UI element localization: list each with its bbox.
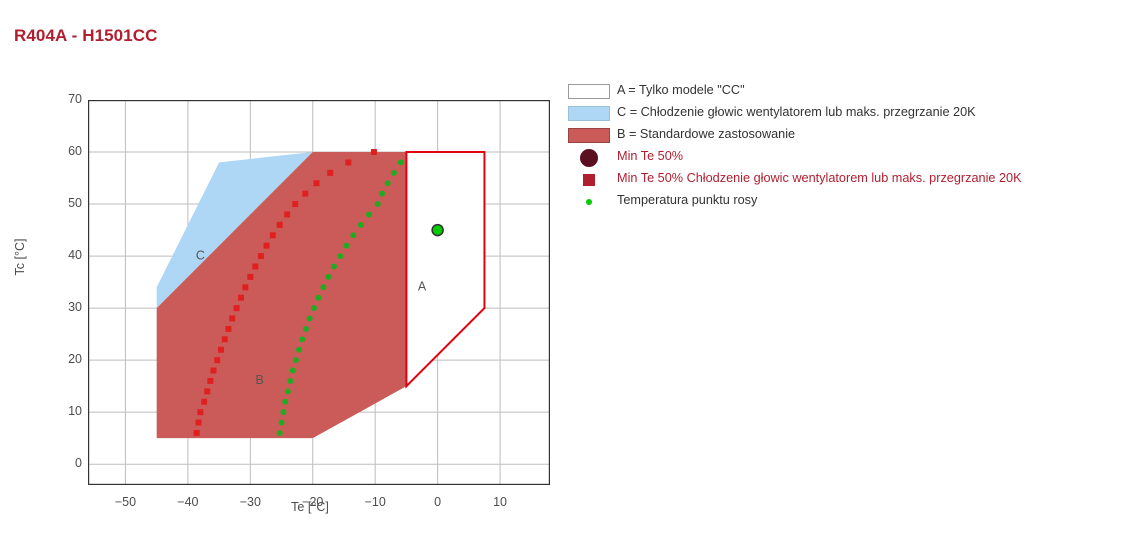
marker-square (197, 409, 203, 415)
legend-label: Min Te 50% (612, 148, 683, 165)
region-label-b: B (256, 373, 264, 387)
marker-square (252, 263, 258, 269)
x-tick-label: −20 (293, 495, 333, 509)
marker-circle (337, 253, 343, 259)
y-tick-label: 60 (48, 144, 82, 158)
marker-square (204, 388, 210, 394)
marker-square (327, 170, 333, 176)
region-b (157, 152, 407, 438)
x-tick-label: −10 (355, 495, 395, 509)
page-title: R404A - H1501CC (14, 26, 158, 46)
y-tick-label: 20 (48, 352, 82, 366)
marker-square (247, 274, 253, 280)
marker-square (201, 399, 207, 405)
legend-item: C = Chłodzenie głowic wentylatorem lub m… (566, 104, 1126, 123)
y-axis-title: Tc [°C] (13, 217, 27, 297)
marker-square (207, 378, 213, 384)
marker-circle (279, 420, 285, 426)
legend-swatch-dot (586, 199, 592, 205)
marker-circle (366, 211, 372, 217)
marker-circle (350, 232, 356, 238)
marker-circle (303, 326, 309, 332)
marker-square (218, 347, 224, 353)
legend-label: A = Tylko modele "CC" (612, 82, 745, 99)
y-tick-label: 40 (48, 248, 82, 262)
marker-square (210, 368, 216, 374)
marker-circle (285, 388, 291, 394)
legend-item: Min Te 50% Chłodzenie głowic wentylatore… (566, 170, 1126, 189)
legend-label: Temperatura punktu rosy (612, 192, 757, 209)
region-label-a: A (418, 280, 427, 294)
chart-container: Tc [°C] Te [°C] ACB 010203040506070−50−4… (0, 60, 600, 540)
legend-swatch-wrap (566, 148, 612, 167)
legend-item: B = Standardowe zastosowanie (566, 126, 1126, 145)
region-label-c: C (196, 248, 205, 262)
legend-label: B = Standardowe zastosowanie (612, 126, 795, 143)
marker-square (194, 430, 200, 436)
marker-circle (331, 263, 337, 269)
marker-circle (325, 274, 331, 280)
marker-square (277, 222, 283, 228)
marker-circle (358, 222, 364, 228)
y-tick-label: 70 (48, 92, 82, 106)
legend-swatch-box (568, 106, 610, 121)
legend-swatch-circle (580, 149, 598, 167)
marker-circle (287, 378, 293, 384)
marker-circle (282, 399, 288, 405)
y-tick-label: 0 (48, 456, 82, 470)
marker-circle (343, 243, 349, 249)
chart-page: R404A - H1501CC Tc [°C] Te [°C] ACB 0102… (0, 0, 1130, 550)
marker-circle (290, 368, 296, 374)
marker-circle (379, 191, 385, 197)
marker-square (222, 336, 228, 342)
marker-square (292, 201, 298, 207)
x-tick-label: −40 (168, 495, 208, 509)
marker-square (196, 420, 202, 426)
chart-legend: A = Tylko modele "CC"C = Chłodzenie głow… (566, 82, 1126, 214)
marker-circle (320, 284, 326, 290)
x-tick-label: −50 (105, 495, 145, 509)
plot-svg: ACB (88, 100, 550, 485)
marker-circle (277, 430, 283, 436)
legend-item: Temperatura punktu rosy (566, 192, 1126, 211)
marker-square (371, 149, 377, 155)
legend-swatch-box (568, 84, 610, 99)
marker-circle (398, 159, 404, 165)
legend-swatch-wrap (566, 192, 612, 211)
legend-item: Min Te 50% (566, 148, 1126, 167)
y-tick-label: 50 (48, 196, 82, 210)
marker-circle (375, 201, 381, 207)
x-tick-label: 10 (480, 495, 520, 509)
legend-swatch-wrap (566, 170, 612, 189)
marker-square (238, 295, 244, 301)
legend-swatch-wrap (566, 104, 612, 123)
y-tick-label: 10 (48, 404, 82, 418)
legend-swatch-box (568, 128, 610, 143)
marker-square (225, 326, 231, 332)
marker-circle (299, 336, 305, 342)
marker-square (284, 211, 290, 217)
marker-square (314, 180, 320, 186)
marker-circle (315, 295, 321, 301)
marker-circle (293, 357, 299, 363)
marker-circle (296, 347, 302, 353)
marker-circle (432, 225, 443, 236)
marker-circle (280, 409, 286, 415)
marker-square (242, 284, 248, 290)
plot-area: ACB (88, 100, 550, 485)
legend-swatch-wrap (566, 126, 612, 145)
legend-label: Min Te 50% Chłodzenie głowic wentylatore… (612, 170, 1022, 187)
marker-square (270, 232, 276, 238)
legend-swatch-square (583, 174, 595, 186)
marker-circle (311, 305, 317, 311)
marker-circle (385, 180, 391, 186)
marker-square (264, 243, 270, 249)
marker-square (302, 191, 308, 197)
marker-square (229, 316, 235, 322)
legend-item: A = Tylko modele "CC" (566, 82, 1126, 101)
marker-square (345, 159, 351, 165)
legend-swatch-wrap (566, 82, 612, 101)
marker-circle (391, 170, 397, 176)
marker-square (258, 253, 264, 259)
marker-square (214, 357, 220, 363)
series-0 (432, 225, 443, 236)
x-tick-label: 0 (418, 495, 458, 509)
marker-circle (307, 316, 313, 322)
region-a (406, 152, 484, 386)
marker-square (234, 305, 240, 311)
y-tick-label: 30 (48, 300, 82, 314)
x-tick-label: −30 (230, 495, 270, 509)
legend-label: C = Chłodzenie głowic wentylatorem lub m… (612, 104, 976, 121)
